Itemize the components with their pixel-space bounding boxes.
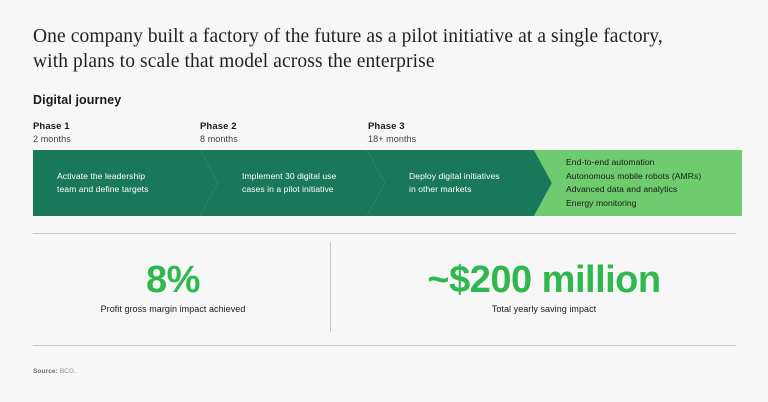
phase-label-2-duration: 8 months bbox=[200, 133, 238, 146]
digital-journey-chevron-band: Activate the leadership team and define … bbox=[33, 150, 742, 216]
phase-chevron-2[interactable]: Implement 30 digital use cases in a pilo… bbox=[200, 150, 385, 216]
phase-label-2: Phase 2 8 months bbox=[200, 120, 238, 146]
divider-top bbox=[33, 233, 736, 234]
phase-label-3-duration: 18+ months bbox=[368, 133, 416, 146]
outcomes-chevron-text: End-to-end automation Autonomous mobile … bbox=[534, 156, 711, 210]
phase-label-3-title: Phase 3 bbox=[368, 120, 416, 133]
stat-yearly-saving-caption: Total yearly saving impact bbox=[352, 302, 736, 316]
page-title-line-1: One company built a factory of the futur… bbox=[33, 24, 733, 49]
stat-profit-margin: 8% Profit gross margin impact achieved bbox=[33, 258, 313, 316]
phase-label-1: Phase 1 2 months bbox=[33, 120, 71, 146]
stat-profit-margin-value: 8% bbox=[33, 258, 313, 302]
source-note-label: Source: bbox=[33, 368, 58, 375]
phase-label-1-duration: 2 months bbox=[33, 133, 71, 146]
phase-chevron-1[interactable]: Activate the leadership team and define … bbox=[33, 150, 218, 216]
stat-yearly-saving: ~$200 million Total yearly saving impact bbox=[352, 258, 736, 316]
phase-chevron-1-text: Activate the leadership team and define … bbox=[33, 170, 174, 197]
stat-profit-margin-caption: Profit gross margin impact achieved bbox=[33, 302, 313, 316]
divider-bottom bbox=[33, 345, 736, 346]
phase-label-2-title: Phase 2 bbox=[200, 120, 238, 133]
source-note: Source: BCG. bbox=[33, 368, 76, 375]
source-note-text: BCG. bbox=[60, 368, 76, 375]
phase-label-3: Phase 3 18+ months bbox=[368, 120, 416, 146]
outcomes-chevron[interactable]: End-to-end automation Autonomous mobile … bbox=[534, 150, 742, 216]
phase-chevron-3[interactable]: Deploy digital initiatives in other mark… bbox=[367, 150, 552, 216]
stat-yearly-saving-value: ~$200 million bbox=[352, 258, 736, 302]
divider-vertical bbox=[330, 242, 331, 332]
phase-chevron-2-text: Implement 30 digital use cases in a pilo… bbox=[200, 170, 362, 197]
slide-canvas: One company built a factory of the futur… bbox=[0, 0, 768, 402]
page-title-line-2: with plans to scale that model across th… bbox=[33, 49, 733, 74]
phase-label-1-title: Phase 1 bbox=[33, 120, 71, 133]
page-title: One company built a factory of the futur… bbox=[33, 24, 733, 74]
phase-chevron-3-text: Deploy digital initiatives in other mark… bbox=[367, 170, 526, 197]
section-heading: Digital journey bbox=[33, 93, 121, 107]
phase-label-row: Phase 1 2 months Phase 2 8 months Phase … bbox=[0, 120, 768, 150]
